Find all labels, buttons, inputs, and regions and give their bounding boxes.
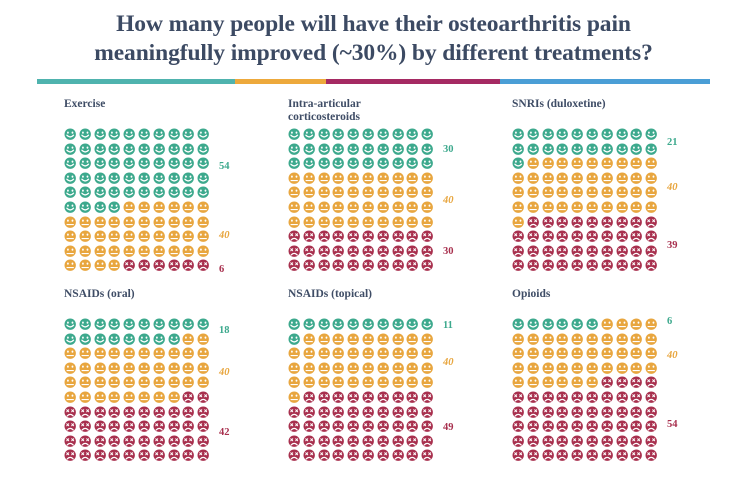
face-icon-orange [421,362,436,377]
waffle-grid [288,318,436,464]
face-icon-orange [197,362,212,377]
face-icon-orange [601,362,616,377]
face-icon-green [421,143,436,158]
face-icon-green [421,318,436,333]
face-icon-orange [197,347,212,362]
face-icon-orange [362,333,377,348]
face-icon-orange [318,186,333,201]
face-icon-orange [197,333,212,348]
face-icon-green [108,333,123,348]
face-icon-orange [406,186,421,201]
face-icon-orange [168,362,183,377]
waffle-chart-snris-duloxetine: 214039 [512,128,664,274]
face-icon-red [288,259,303,274]
face-icon-red [586,391,601,406]
face-icon-green [406,157,421,172]
face-icon-red [303,449,318,464]
face-icon-orange [406,333,421,348]
face-icon-orange [64,376,79,391]
face-icon-green [512,128,527,143]
face-icon-red [362,420,377,435]
face-icon-green [616,143,631,158]
face-icon-green [79,201,94,216]
face-icon-orange [616,172,631,187]
face-icon-red [586,420,601,435]
count-label-orange: 40 [667,351,678,362]
face-icon-green [123,186,138,201]
face-icon-red [616,259,631,274]
face-icon-red [362,259,377,274]
face-icon-orange [182,201,197,216]
face-icon-green [182,318,197,333]
face-icon-red [527,420,542,435]
face-icon-red [645,245,660,260]
face-icon-orange [94,376,109,391]
face-icon-red [377,435,392,450]
face-icon-orange [406,201,421,216]
face-icon-red [571,230,586,245]
face-icon-orange [392,333,407,348]
face-icon-red [108,435,123,450]
count-labels: 114049 [443,318,483,464]
face-icon-orange [64,245,79,260]
face-icon-orange [318,362,333,377]
count-label-orange: 40 [443,358,454,369]
face-icon-green [138,186,153,201]
face-icon-orange [108,391,123,406]
face-icon-green [318,128,333,143]
face-icon-red [138,449,153,464]
panel-nsaids-oral: NSAIDs (oral)184042 [64,288,277,478]
face-icon-red [645,230,660,245]
face-icon-orange [527,186,542,201]
count-label-orange: 40 [219,368,230,379]
face-icon-red [421,406,436,421]
face-icon-orange [645,186,660,201]
face-icon-green [586,128,601,143]
face-icon-green [601,128,616,143]
face-icon-orange [645,362,660,377]
face-icon-red [153,449,168,464]
face-icon-green [123,333,138,348]
face-icon-orange [542,186,557,201]
face-icon-orange [94,245,109,260]
face-icon-orange [406,172,421,187]
orange-segment [235,79,326,84]
face-icon-red [645,420,660,435]
face-icon-green [571,128,586,143]
face-icon-red [571,406,586,421]
face-icon-orange [392,186,407,201]
face-icon-red [616,420,631,435]
face-icon-red [571,420,586,435]
panel-nsaids-topical: NSAIDs (topical)114049 [288,288,501,478]
face-icon-green [79,172,94,187]
face-icon-orange [153,201,168,216]
face-icon-green [138,333,153,348]
face-icon-red [542,420,557,435]
face-icon-green [288,143,303,158]
face-icon-orange [421,376,436,391]
face-icon-orange [182,230,197,245]
face-icon-orange [197,216,212,231]
face-icon-green [512,157,527,172]
panel-snris-duloxetine: SNRIs (duloxetine)214039 [512,98,725,288]
face-icon-red [392,406,407,421]
face-icon-red [168,449,183,464]
face-icon-orange [377,216,392,231]
face-icon-orange [197,201,212,216]
face-icon-orange [586,333,601,348]
face-icon-red [421,259,436,274]
face-icon-red [527,406,542,421]
face-icon-green [94,143,109,158]
face-icon-orange [64,230,79,245]
face-icon-red [79,420,94,435]
face-icon-green [288,128,303,143]
face-icon-orange [123,216,138,231]
face-icon-orange [645,333,660,348]
face-icon-orange [318,333,333,348]
face-icon-red [601,376,616,391]
face-icon-red [527,216,542,231]
face-icon-green [362,318,377,333]
face-icon-orange [303,362,318,377]
face-icon-orange [182,362,197,377]
face-icon-orange [123,347,138,362]
face-icon-orange [168,376,183,391]
face-icon-red [406,435,421,450]
face-icon-red [318,420,333,435]
face-icon-green [108,157,123,172]
count-label-red: 42 [219,428,230,439]
face-icon-green [347,143,362,158]
face-icon-green [153,128,168,143]
face-icon-orange [347,201,362,216]
face-icon-red [630,376,645,391]
face-icon-orange [571,186,586,201]
face-icon-red [197,406,212,421]
face-icon-orange [347,172,362,187]
face-icon-red [556,245,571,260]
face-icon-green [153,333,168,348]
face-icon-orange [153,216,168,231]
face-icon-orange [123,391,138,406]
face-icon-green [332,128,347,143]
face-icon-orange [571,333,586,348]
face-icon-orange [377,172,392,187]
face-icon-orange [138,347,153,362]
face-icon-orange [138,216,153,231]
face-icon-orange [197,376,212,391]
face-icon-orange [288,172,303,187]
face-icon-red [362,391,377,406]
face-icon-red [168,435,183,450]
face-icon-orange [303,216,318,231]
face-icon-green [138,318,153,333]
face-icon-orange [288,186,303,201]
face-icon-orange [421,333,436,348]
face-icon-orange [645,201,660,216]
face-icon-green [168,143,183,158]
face-icon-orange [79,216,94,231]
face-icon-orange [182,216,197,231]
face-icon-green [168,128,183,143]
face-icon-green [421,157,436,172]
face-icon-green [123,143,138,158]
waffle-chart-exercise: 54406 [64,128,216,274]
face-icon-green [377,143,392,158]
face-icon-orange [601,201,616,216]
face-icon-orange [64,216,79,231]
face-icon-orange [64,347,79,362]
count-label-red: 49 [443,423,454,434]
face-icon-orange [586,347,601,362]
face-icon-red [123,435,138,450]
panel-title-intra-articular-corticosteroids: Intra-articular corticosteroids [288,98,501,124]
face-icon-red [197,420,212,435]
face-icon-red [182,391,197,406]
count-label-green: 54 [219,162,230,173]
face-icon-red [571,245,586,260]
face-icon-orange [421,216,436,231]
face-icon-orange [421,172,436,187]
face-icon-red [645,449,660,464]
face-icon-orange [392,201,407,216]
face-icon-orange [303,376,318,391]
face-icon-green [392,318,407,333]
face-icon-red [347,259,362,274]
face-icon-orange [168,201,183,216]
face-icon-orange [586,376,601,391]
face-icon-orange [153,230,168,245]
panel-title-nsaids-topical: NSAIDs (topical) [288,288,501,314]
face-icon-green [168,157,183,172]
face-icon-orange [556,362,571,377]
face-icon-red [586,259,601,274]
face-icon-orange [138,391,153,406]
face-icon-red [138,435,153,450]
face-icon-orange [94,259,109,274]
count-label-orange: 40 [667,183,678,194]
face-icon-red [123,449,138,464]
face-icon-orange [362,376,377,391]
face-icon-orange [512,333,527,348]
face-icon-red [630,391,645,406]
face-icon-red [347,391,362,406]
face-icon-red [347,449,362,464]
face-icon-red [94,406,109,421]
face-icon-green [182,172,197,187]
count-label-green: 18 [219,326,230,337]
face-icon-orange [318,347,333,362]
face-icon-red [377,391,392,406]
face-icon-red [288,406,303,421]
face-icon-green [94,201,109,216]
face-icon-orange [512,172,527,187]
face-icon-red [347,406,362,421]
face-icon-orange [586,201,601,216]
face-icon-orange [586,186,601,201]
face-icon-green [303,157,318,172]
face-icon-green [197,172,212,187]
face-icon-green [512,143,527,158]
face-icon-orange [79,391,94,406]
face-icon-orange [616,362,631,377]
face-icon-red [392,245,407,260]
face-icon-green [616,128,631,143]
face-icon-red [182,449,197,464]
count-label-green: 6 [667,317,672,328]
face-icon-orange [421,186,436,201]
face-icon-red [421,449,436,464]
face-icon-red [586,216,601,231]
face-icon-orange [406,347,421,362]
face-icon-orange [406,216,421,231]
face-icon-green [542,318,557,333]
panel-title-opioids: Opioids [512,288,725,314]
face-icon-orange [108,230,123,245]
face-icon-red [332,259,347,274]
face-icon-red [303,406,318,421]
face-icon-orange [288,391,303,406]
face-icon-red [377,230,392,245]
face-icon-orange [94,347,109,362]
face-icon-orange [108,216,123,231]
face-icon-orange [630,201,645,216]
face-icon-orange [377,362,392,377]
face-icon-red [601,216,616,231]
face-icon-orange [556,186,571,201]
face-icon-red [94,420,109,435]
face-icon-red [527,449,542,464]
face-icon-green [123,157,138,172]
face-icon-green [79,186,94,201]
face-icon-orange [332,172,347,187]
face-icon-orange [303,333,318,348]
face-icon-red [108,420,123,435]
face-icon-orange [318,376,333,391]
waffle-grid [288,128,436,274]
face-icon-green [123,318,138,333]
face-icon-orange [392,362,407,377]
face-icon-red [332,230,347,245]
face-icon-red [347,435,362,450]
face-icon-red [527,391,542,406]
face-icon-green [64,172,79,187]
face-icon-green [377,318,392,333]
face-icon-red [421,391,436,406]
face-icon-orange [79,230,94,245]
face-icon-orange [108,362,123,377]
face-icon-orange [392,216,407,231]
face-icon-orange [616,157,631,172]
face-icon-red [630,216,645,231]
face-icon-orange [601,347,616,362]
face-icon-orange [64,362,79,377]
face-icon-orange [377,333,392,348]
face-icon-orange [601,318,616,333]
face-icon-orange [108,259,123,274]
face-icon-red [303,259,318,274]
face-icon-red [542,406,557,421]
face-icon-orange [512,362,527,377]
face-icon-orange [542,201,557,216]
face-icon-orange [616,201,631,216]
waffle-chart-intra-articular-corticosteroids: 304030 [288,128,440,274]
face-icon-green [153,318,168,333]
face-icon-orange [197,245,212,260]
face-icon-orange [586,157,601,172]
face-icon-red [94,435,109,450]
face-icon-orange [362,201,377,216]
face-icon-green [586,318,601,333]
face-icon-orange [392,376,407,391]
face-icon-green [168,318,183,333]
face-icon-red [332,406,347,421]
face-icon-red [645,406,660,421]
face-icon-orange [362,362,377,377]
face-icon-orange [542,157,557,172]
face-icon-red [527,259,542,274]
face-icon-green [138,128,153,143]
face-icon-orange [168,245,183,260]
face-icon-green [392,143,407,158]
face-icon-orange [527,157,542,172]
face-icon-green [64,318,79,333]
face-icon-red [586,449,601,464]
face-icon-orange [303,201,318,216]
face-icon-orange [288,201,303,216]
face-icon-red [586,230,601,245]
face-icon-orange [571,172,586,187]
face-icon-green [197,186,212,201]
face-icon-green [556,143,571,158]
face-icon-green [377,128,392,143]
panel-intra-articular-corticosteroids: Intra-articular corticosteroids304030 [288,98,501,288]
face-icon-orange [332,362,347,377]
face-icon-red [406,259,421,274]
count-label-green: 11 [443,321,453,332]
face-icon-red [392,435,407,450]
face-icon-red [318,435,333,450]
face-icon-red [332,391,347,406]
face-icon-orange [168,230,183,245]
face-icon-orange [630,186,645,201]
face-icon-orange [542,362,557,377]
face-icon-red [556,406,571,421]
face-icon-orange [79,347,94,362]
face-icon-red [303,245,318,260]
face-icon-red [586,406,601,421]
face-icon-red [64,449,79,464]
face-icon-green [153,157,168,172]
face-icon-green [392,128,407,143]
face-icon-orange [347,376,362,391]
face-icon-orange [168,391,183,406]
face-icon-orange [108,347,123,362]
face-icon-green [138,143,153,158]
face-icon-green [586,143,601,158]
face-icon-red [94,449,109,464]
face-icon-green [153,172,168,187]
face-icon-red [542,435,557,450]
face-icon-orange [64,259,79,274]
face-icon-red [406,420,421,435]
face-icon-orange [138,201,153,216]
face-icon-red [123,420,138,435]
face-icon-red [347,230,362,245]
